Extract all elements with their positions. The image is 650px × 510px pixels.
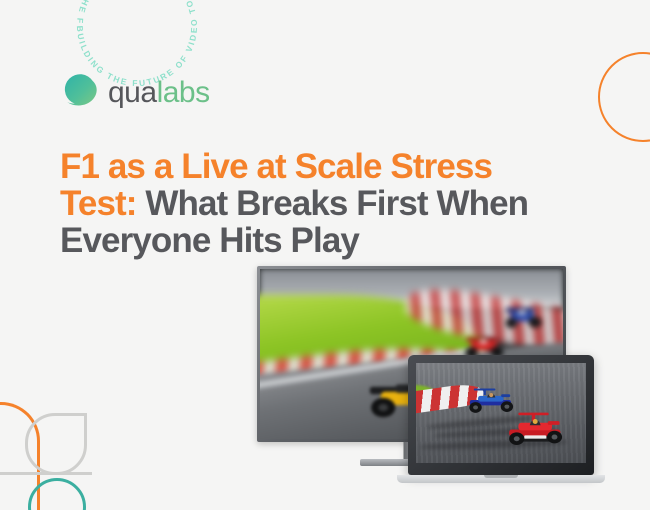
qualabs-ring-icon [61,74,99,112]
page-title: F1 as a Live at Scale Stress Test: What … [60,149,560,259]
laptop-screen [416,363,586,463]
brand-wordmark: qualabs [108,78,210,108]
laptop-mockup [408,355,594,475]
orange-circle-decoration [598,52,650,142]
brand-word-qua: qua [108,76,157,109]
brand-logo: qualabs [61,74,210,112]
gray-leaf-decoration [25,413,87,475]
laptop-lid [408,355,594,475]
tv-car-blue-icon [493,305,554,332]
slide-canvas: BUILDING THE FUTURE OF VIDEO TOGETHER • … [0,0,650,510]
laptop-car-red-icon [491,411,579,453]
brand-word-labs: labs [157,76,210,109]
laptop-trackpad-notch [484,475,518,478]
